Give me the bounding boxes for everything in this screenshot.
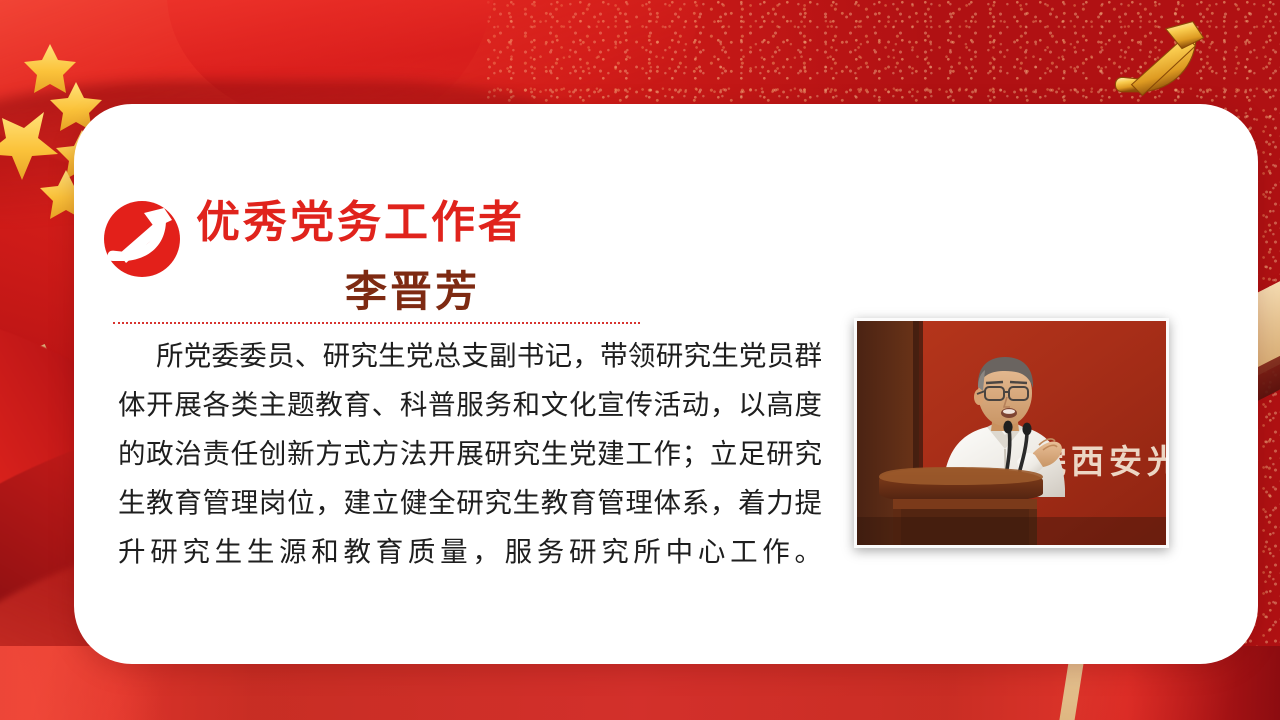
slide-root: 优秀党务工作者 李晋芳 所党委委员、研究生党总支副书记，带领研究生党员群体开展各… (0, 0, 1280, 720)
bio-paragraph: 所党委委员、研究生党总支副书记，带领研究生党员群体开展各类主题教育、科普服务和文… (118, 332, 822, 577)
page-title: 优秀党务工作者 (196, 200, 525, 246)
dotted-divider (113, 322, 640, 324)
person-name: 李晋芳 (345, 258, 480, 319)
speaker-photo: 院西安光 (854, 318, 1169, 548)
hammer-and-sickle-gold-icon (1110, 18, 1218, 110)
party-emblem-hammer-sickle-icon (103, 200, 181, 278)
